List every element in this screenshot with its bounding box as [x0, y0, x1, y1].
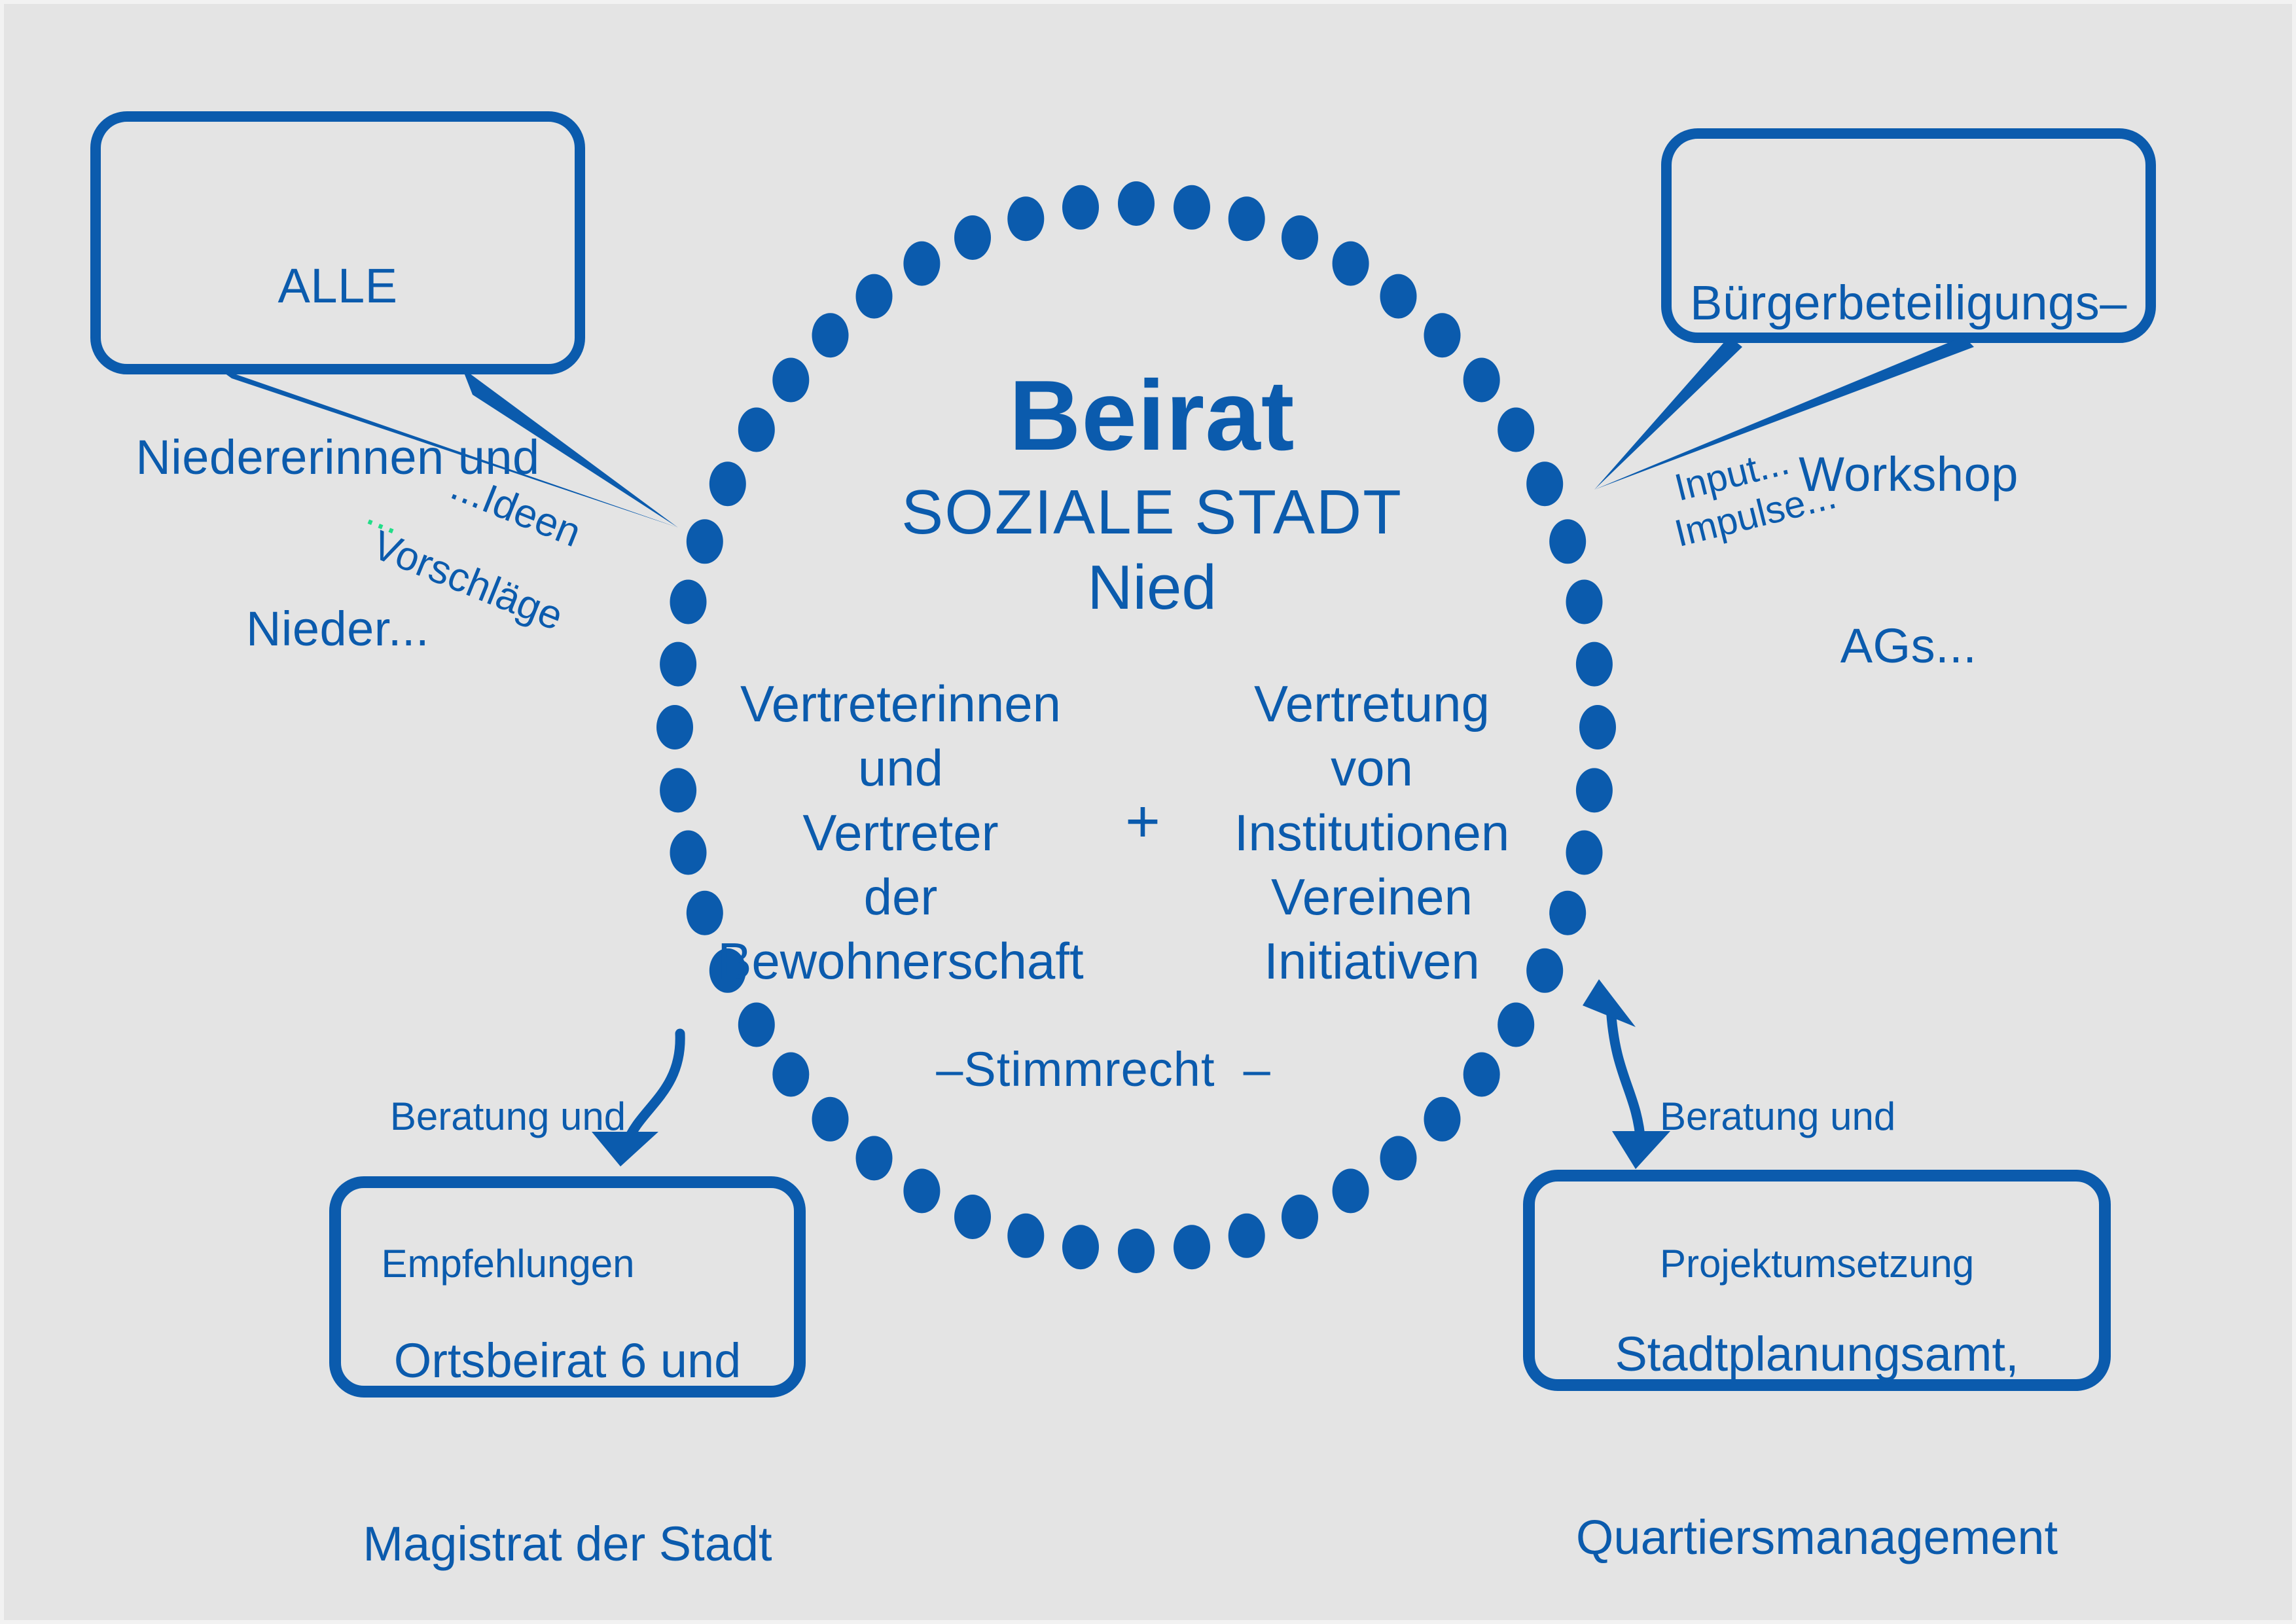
ring-dot: [709, 461, 746, 506]
box-left-line1: Ortsbeirat 6 und: [335, 1330, 800, 1391]
ring-dot: [1576, 642, 1613, 687]
ring-dot: [954, 1195, 991, 1239]
center-place: Nied: [825, 550, 1479, 624]
ring-dot: [812, 1097, 849, 1142]
ring-dot: [1463, 1053, 1500, 1097]
ring-dot: [1576, 768, 1613, 812]
ring-dot: [903, 1168, 940, 1213]
box-right-line1: Stadtplanungsamt,: [1529, 1324, 2105, 1384]
annotation-beratung-links-line1: Beratung und: [370, 1092, 645, 1141]
ring-dot: [1579, 705, 1616, 749]
ring-dot: [903, 242, 940, 286]
ring-dot: [856, 1136, 893, 1180]
ring-dot: [1333, 1168, 1369, 1213]
annotation-beratung-rechts-line1: Beratung und: [1660, 1092, 1974, 1141]
ring-dot: [1498, 1003, 1534, 1047]
ring-dot: [660, 768, 696, 812]
ring-dot: [738, 408, 775, 452]
ring-dot: [670, 580, 707, 624]
ring-dot: [1380, 1136, 1417, 1180]
ring-dot: [772, 358, 809, 403]
ring-dot: [687, 519, 723, 564]
ring-dot: [1007, 196, 1044, 241]
bubble-right-line3: AGs...: [1666, 617, 2151, 674]
ring-dot: [1424, 1097, 1461, 1142]
ring-dot: [1549, 519, 1586, 564]
box-bottom-right-text: Stadtplanungsamt, Quartiersmanagement un…: [1529, 1202, 2105, 1624]
ring-dot: [738, 1003, 775, 1047]
ring-dot: [1424, 313, 1461, 357]
ring-dot: [856, 274, 893, 319]
ring-dot: [1174, 1225, 1210, 1269]
arrow-right-double: [1583, 979, 1670, 1169]
ring-dot: [1174, 185, 1210, 230]
ring-dot: [1062, 185, 1099, 230]
center-right-column: Vertretung von Institutionen Vereinen In…: [1202, 672, 1542, 993]
box-right-line2: Quartiersmanagement: [1529, 1507, 2105, 1568]
ring-dot: [660, 642, 696, 687]
ring-dot: [1282, 215, 1318, 260]
diagram-canvas: ALLE Niedererinnen und Nieder... Bürgerb…: [0, 0, 2296, 1624]
ring-dot: [1118, 1229, 1155, 1273]
center-operator: +: [1077, 786, 1208, 857]
ring-dot: [1282, 1195, 1318, 1239]
ring-dot: [1229, 1214, 1265, 1258]
ring-dot: [1007, 1214, 1044, 1258]
ring-dot: [1229, 196, 1265, 241]
center-subheading: SOZIALE STADT: [825, 475, 1479, 549]
speech-bubble-top-left-text: ALLE Niedererinnen und Nieder...: [96, 143, 580, 771]
ring-dot: [1062, 1225, 1099, 1269]
ring-dot: [1566, 831, 1603, 875]
center-left-column: Vertreterinnen und Vertreter der Bewohne…: [717, 672, 1084, 993]
ring-dot: [1380, 274, 1417, 319]
box-bottom-left-text: Ortsbeirat 6 und Magistrat der Stadt Fra…: [335, 1208, 800, 1624]
bubble-left-line1: ALLE: [96, 257, 580, 314]
ring-dot: [954, 215, 991, 260]
ring-dot: [1549, 891, 1586, 935]
ring-dot: [1566, 580, 1603, 624]
ring-dot: [1526, 461, 1563, 506]
bubble-left-line2: Niedererinnen und: [96, 429, 580, 486]
center-heading: Beirat: [825, 357, 1479, 475]
ring-dot: [1333, 242, 1369, 286]
center-footnote: –Stimmrecht –: [920, 1041, 1287, 1098]
bubble-right-line1: Bürgerbeteiligungs–: [1666, 274, 2151, 331]
ring-dot: [772, 1053, 809, 1097]
ring-dot: [670, 831, 707, 875]
box-left-line2: Magistrat der Stadt: [335, 1513, 800, 1574]
ring-dot: [1118, 181, 1155, 226]
ring-dot: [1498, 408, 1534, 452]
ring-dot: [656, 705, 693, 749]
ring-dot: [812, 313, 849, 357]
